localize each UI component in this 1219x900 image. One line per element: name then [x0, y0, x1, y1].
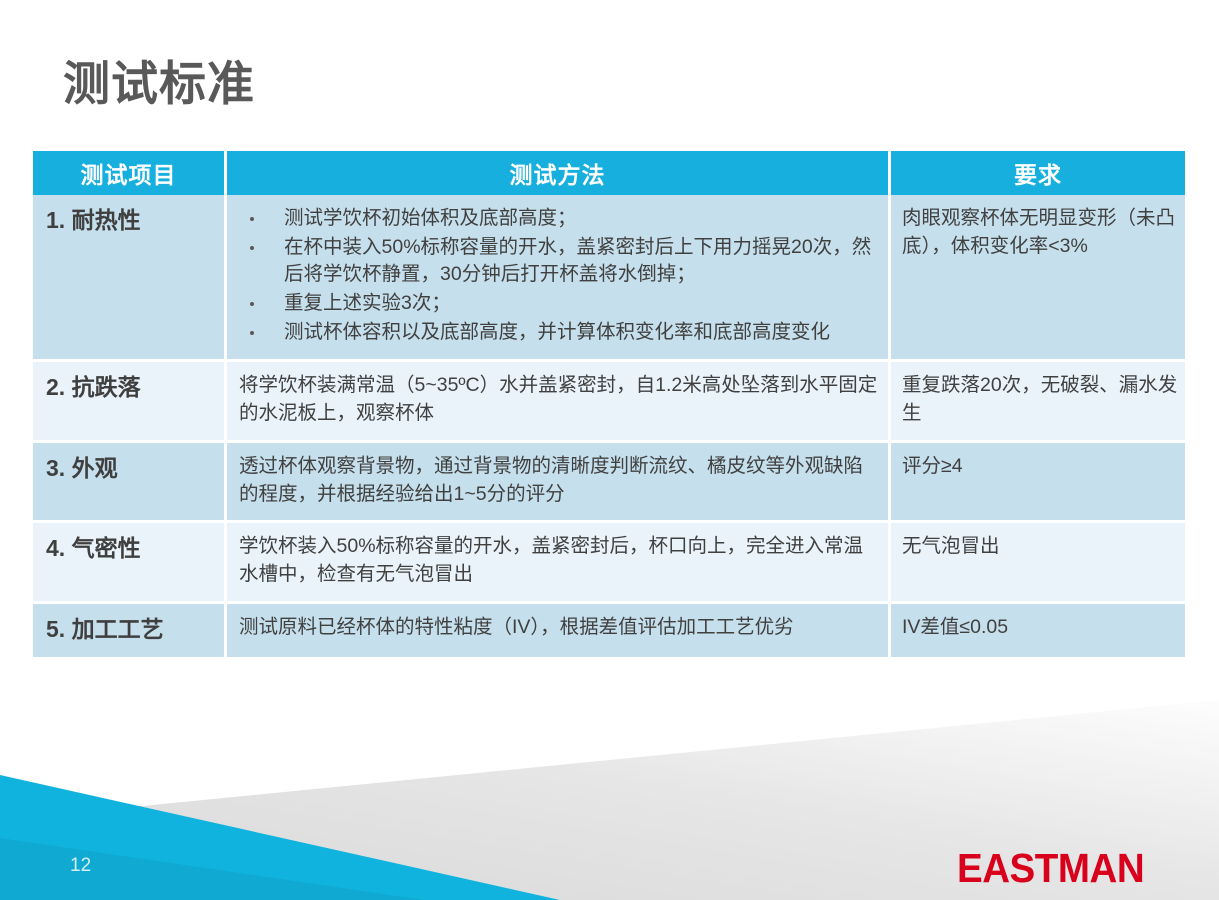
cell-test-method: 将学饮杯装满常温（5~35ºC）水并盖紧密封，自1.2米高处坠落到水平固定的水泥… [227, 362, 891, 442]
method-text: 透过杯体观察背景物，通过背景物的清晰度判断流纹、橘皮纹等外观缺陷的程度，并根据经… [239, 455, 863, 505]
table-row: 5. 加工工艺 测试原料已经杯体的特性粘度（IV），根据差值评估加工工艺优劣 I… [33, 604, 1185, 661]
list-item: 重复上述实验3次； [239, 290, 880, 318]
cyan-triangle-dark [0, 838, 424, 900]
column-header-test-item: 测试项目 [33, 151, 227, 195]
cell-test-item: 4. 气密性 [33, 523, 227, 603]
table-body: 1. 耐热性 测试学饮杯初始体积及底部高度； 在杯中装入50%标称容量的开水，盖… [33, 195, 1185, 660]
cyan-triangle-light [0, 775, 560, 900]
eastman-logo: EASTMAN [957, 845, 1144, 892]
method-text: 学饮杯装入50%标称容量的开水，盖紧密封后，杯口向上，完全进入常温水槽中，检查有… [239, 535, 863, 585]
page-title: 测试标准 [63, 57, 255, 111]
page-number: 12 [70, 855, 91, 877]
test-standards-table-wrapper: 测试项目 测试方法 要求 1. 耐热性 测试学饮杯初始体积及底部高度； 在杯中装… [33, 151, 1185, 660]
table-row: 1. 耐热性 测试学饮杯初始体积及底部高度； 在杯中装入50%标称容量的开水，盖… [33, 195, 1185, 362]
slide-canvas: 测试标准 测试项目 测试方法 要求 1. 耐热性 测试学饮杯初始体积及底部高 [0, 0, 1219, 900]
cell-test-item: 3. 外观 [33, 443, 227, 523]
table-header: 测试项目 测试方法 要求 [33, 151, 1185, 195]
column-header-requirement: 要求 [891, 151, 1185, 195]
table-header-row: 测试项目 测试方法 要求 [33, 151, 1185, 195]
list-item: 测试杯体容积以及底部高度，并计算体积变化率和底部高度变化 [239, 319, 880, 347]
cell-test-method: 测试原料已经杯体的特性粘度（IV），根据差值评估加工工艺优劣 [227, 604, 891, 661]
table-row: 4. 气密性 学饮杯装入50%标称容量的开水，盖紧密封后，杯口向上，完全进入常温… [33, 523, 1185, 603]
list-item: 测试学饮杯初始体积及底部高度； [239, 205, 880, 233]
cell-test-method: 测试学饮杯初始体积及底部高度； 在杯中装入50%标称容量的开水，盖紧密封后上下用… [227, 195, 891, 362]
method-bullet-list: 测试学饮杯初始体积及底部高度； 在杯中装入50%标称容量的开水，盖紧密封后上下用… [239, 205, 880, 346]
cell-requirement: 无气泡冒出 [891, 523, 1185, 603]
table-row: 2. 抗跌落 将学饮杯装满常温（5~35ºC）水并盖紧密封，自1.2米高处坠落到… [33, 362, 1185, 442]
method-text: 将学饮杯装满常温（5~35ºC）水并盖紧密封，自1.2米高处坠落到水平固定的水泥… [239, 374, 877, 424]
cell-requirement: 肉眼观察杯体无明显变形（未凸底），体积变化率<3% [891, 195, 1185, 362]
cell-test-method: 透过杯体观察背景物，通过背景物的清晰度判断流纹、橘皮纹等外观缺陷的程度，并根据经… [227, 443, 891, 523]
cell-test-item: 2. 抗跌落 [33, 362, 227, 442]
test-standards-table: 测试项目 测试方法 要求 1. 耐热性 测试学饮杯初始体积及底部高度； 在杯中装… [33, 151, 1185, 660]
list-item: 在杯中装入50%标称容量的开水，盖紧密封后上下用力摇晃20次，然后将学饮杯静置，… [239, 234, 880, 289]
cell-requirement: 评分≥4 [891, 443, 1185, 523]
method-text: 测试原料已经杯体的特性粘度（IV），根据差值评估加工工艺优劣 [239, 616, 794, 638]
table-row: 3. 外观 透过杯体观察背景物，通过背景物的清晰度判断流纹、橘皮纹等外观缺陷的程… [33, 443, 1185, 523]
column-header-test-method: 测试方法 [227, 151, 891, 195]
cell-test-item: 5. 加工工艺 [33, 604, 227, 661]
cell-requirement: 重复跌落20次，无破裂、漏水发生 [891, 362, 1185, 442]
cell-requirement: IV差值≤0.05 [891, 604, 1185, 661]
cell-test-method: 学饮杯装入50%标称容量的开水，盖紧密封后，杯口向上，完全进入常温水槽中，检查有… [227, 523, 891, 603]
cell-test-item: 1. 耐热性 [33, 195, 227, 362]
